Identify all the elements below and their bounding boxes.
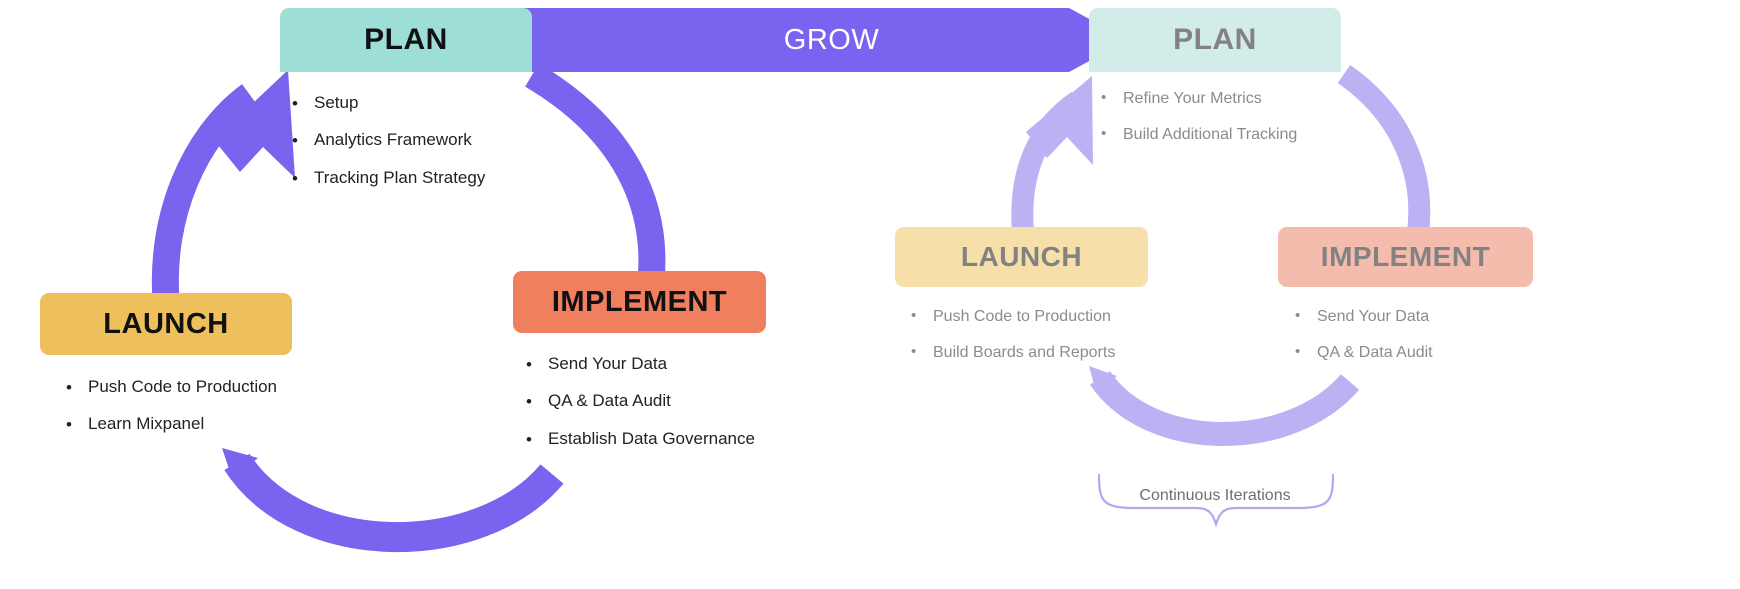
node-plan-faded[interactable]: PLAN • Refine Your Metrics • Build Addit… [1089, 8, 1341, 161]
grow-banner-arrow [520, 8, 1128, 72]
launch2-to-plan2-arrowhead [1026, 76, 1093, 165]
bullet-text: Learn Mixpanel [88, 414, 292, 434]
bullet-text: QA & Data Audit [548, 391, 766, 411]
node-launch-header[interactable]: LAUNCH [40, 293, 292, 355]
launch2-to-plan2-arrow-shaft [1022, 101, 1078, 232]
plan2-to-implement2-arrow [1344, 74, 1419, 232]
list-item: • Build Boards and Reports [911, 343, 1148, 362]
node-implement-header[interactable]: IMPLEMENT [513, 271, 766, 333]
bullet-text: QA & Data Audit [1317, 343, 1533, 362]
bullet-glyph: • [292, 130, 314, 151]
node-implement[interactable]: IMPLEMENT • Send Your Data • QA & Data A… [513, 271, 766, 466]
list-item: • Send Your Data [1295, 307, 1533, 326]
bullet-glyph: • [1101, 125, 1123, 144]
list-item: • QA & Data Audit [526, 391, 766, 412]
bullet-text: Refine Your Metrics [1123, 89, 1341, 108]
node-launch-faded-title: LAUNCH [961, 241, 1082, 273]
node-implement-faded-header[interactable]: IMPLEMENT [1278, 227, 1533, 287]
bullet-glyph: • [526, 354, 548, 375]
node-implement-title: IMPLEMENT [552, 286, 727, 319]
continuous-iterations-text: Continuous Iterations [1139, 487, 1290, 504]
bullet-text: Push Code to Production [933, 307, 1148, 326]
bullet-text: Build Additional Tracking [1123, 125, 1341, 144]
list-item: • Establish Data Governance [526, 429, 766, 450]
node-launch-faded-header[interactable]: LAUNCH [895, 227, 1148, 287]
list-item: • Build Additional Tracking [1101, 125, 1341, 144]
bullet-glyph: • [1295, 307, 1317, 326]
lifecycle-diagram: GROW PLAN • Setup • Analytics Framework … [0, 0, 1740, 589]
list-item: • QA & Data Audit [1295, 343, 1533, 362]
list-item: • Tracking Plan Strategy [292, 168, 532, 189]
list-item: • Send Your Data [526, 354, 766, 375]
node-launch-faded[interactable]: LAUNCH • Push Code to Production • Build… [895, 227, 1148, 379]
list-item: • Push Code to Production [66, 377, 292, 398]
list-item: • Analytics Framework [292, 130, 532, 151]
grow-label-text: GROW [784, 24, 879, 57]
bullet-text: Setup [314, 93, 532, 113]
node-launch-title: LAUNCH [103, 308, 228, 341]
bullet-text: Send Your Data [548, 354, 766, 374]
launch-to-plan-arrow-shaft [165, 95, 250, 300]
node-plan[interactable]: PLAN • Setup • Analytics Framework • Tra… [280, 8, 532, 205]
bullet-glyph: • [66, 377, 88, 398]
bullet-text: Tracking Plan Strategy [314, 168, 532, 188]
implement-to-launch-cap [222, 448, 258, 478]
bullet-text: Build Boards and Reports [933, 343, 1148, 362]
bullet-glyph: • [1295, 343, 1317, 362]
bullet-glyph: • [526, 429, 548, 450]
node-launch-bullets: • Push Code to Production • Learn Mixpan… [40, 377, 292, 436]
bullet-text: Send Your Data [1317, 307, 1533, 326]
node-launch[interactable]: LAUNCH • Push Code to Production • Learn… [40, 293, 292, 452]
node-launch-faded-bullets: • Push Code to Production • Build Boards… [895, 307, 1148, 362]
node-plan-title: PLAN [364, 23, 448, 57]
bullet-text: Analytics Framework [314, 130, 532, 150]
bullet-glyph: • [1101, 89, 1123, 108]
bullet-glyph: • [911, 307, 933, 326]
node-implement-faded-title: IMPLEMENT [1321, 241, 1490, 273]
node-plan-faded-title: PLAN [1173, 23, 1257, 57]
node-implement-faded[interactable]: IMPLEMENT • Send Your Data • QA & Data A… [1278, 227, 1533, 379]
list-item: • Push Code to Production [911, 307, 1148, 326]
list-item: • Setup [292, 93, 532, 114]
implement2-to-launch2-arrow [1100, 378, 1350, 434]
node-implement-bullets: • Send Your Data • QA & Data Audit • Est… [513, 354, 766, 450]
plan-to-implement-arrow [532, 75, 652, 280]
bullet-glyph: • [526, 391, 548, 412]
bullet-glyph: • [911, 343, 933, 362]
list-item: • Refine Your Metrics [1101, 89, 1341, 108]
bullet-glyph: • [292, 168, 314, 189]
implement-to-launch-arrow [237, 462, 552, 537]
grow-banner-label: GROW [533, 8, 1130, 72]
node-plan-faded-header[interactable]: PLAN [1089, 8, 1341, 72]
list-item: • Learn Mixpanel [66, 414, 292, 435]
continuous-iterations-label: Continuous Iterations [1065, 487, 1365, 505]
bullet-glyph: • [66, 414, 88, 435]
bullet-text: Establish Data Governance [548, 429, 766, 449]
node-plan-bullets: • Setup • Analytics Framework • Tracking… [280, 93, 532, 189]
node-implement-faded-bullets: • Send Your Data • QA & Data Audit [1278, 307, 1533, 362]
node-plan-faded-bullets: • Refine Your Metrics • Build Additional… [1089, 89, 1341, 144]
bullet-text: Push Code to Production [88, 377, 292, 397]
bullet-glyph: • [292, 93, 314, 114]
node-plan-header[interactable]: PLAN [280, 8, 532, 72]
